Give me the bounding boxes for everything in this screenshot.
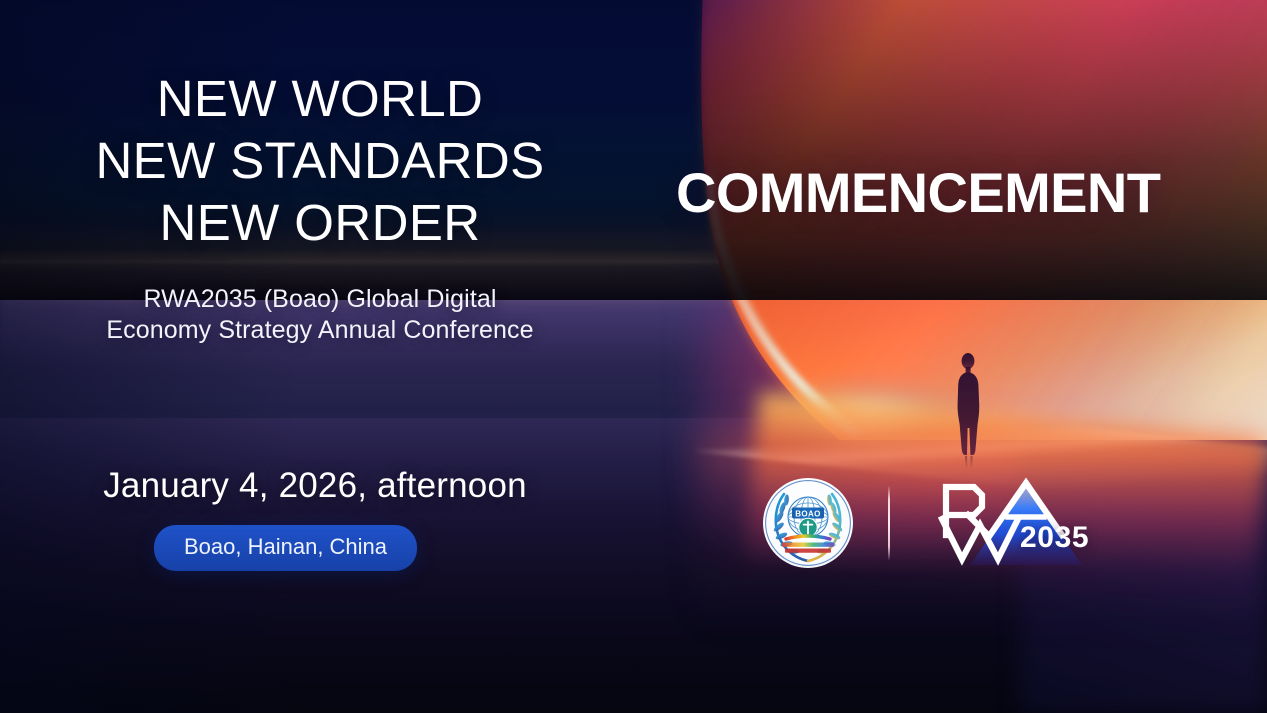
conference-subtitle: RWA2035 (Boao) Global Digital Economy St…: [0, 284, 640, 346]
conference-promo-poster: NEW WORLD NEW STANDARDS NEW ORDER RWA203…: [0, 0, 1267, 713]
boao-conference-emblem-icon: BOAO: [762, 477, 854, 569]
logo-lockup: BOAO: [762, 473, 1112, 573]
event-date: January 4, 2026, afternoon: [0, 464, 630, 508]
subtitle-line-2: Economy Strategy Annual Conference: [0, 315, 640, 346]
rwa-2035-logo: 2035: [922, 473, 1112, 573]
headline-line-1: NEW WORLD: [0, 68, 640, 130]
headline-line-2: NEW STANDARDS: [0, 130, 640, 192]
headline-line-3: NEW ORDER: [0, 192, 640, 254]
lockup-divider: [888, 486, 890, 560]
poster-headline: NEW WORLD NEW STANDARDS NEW ORDER: [0, 68, 640, 254]
svg-text:BOAO: BOAO: [795, 509, 821, 518]
subtitle-line-1: RWA2035 (Boao) Global Digital: [0, 284, 640, 315]
commencement-title: COMMENCEMENT: [676, 161, 1160, 225]
standing-person-silhouette: [946, 352, 992, 470]
violet-falloff: [1020, 0, 1267, 713]
rwa-logo-year: 2035: [1020, 521, 1089, 555]
event-location-badge: Boao, Hainan, China: [154, 525, 417, 571]
